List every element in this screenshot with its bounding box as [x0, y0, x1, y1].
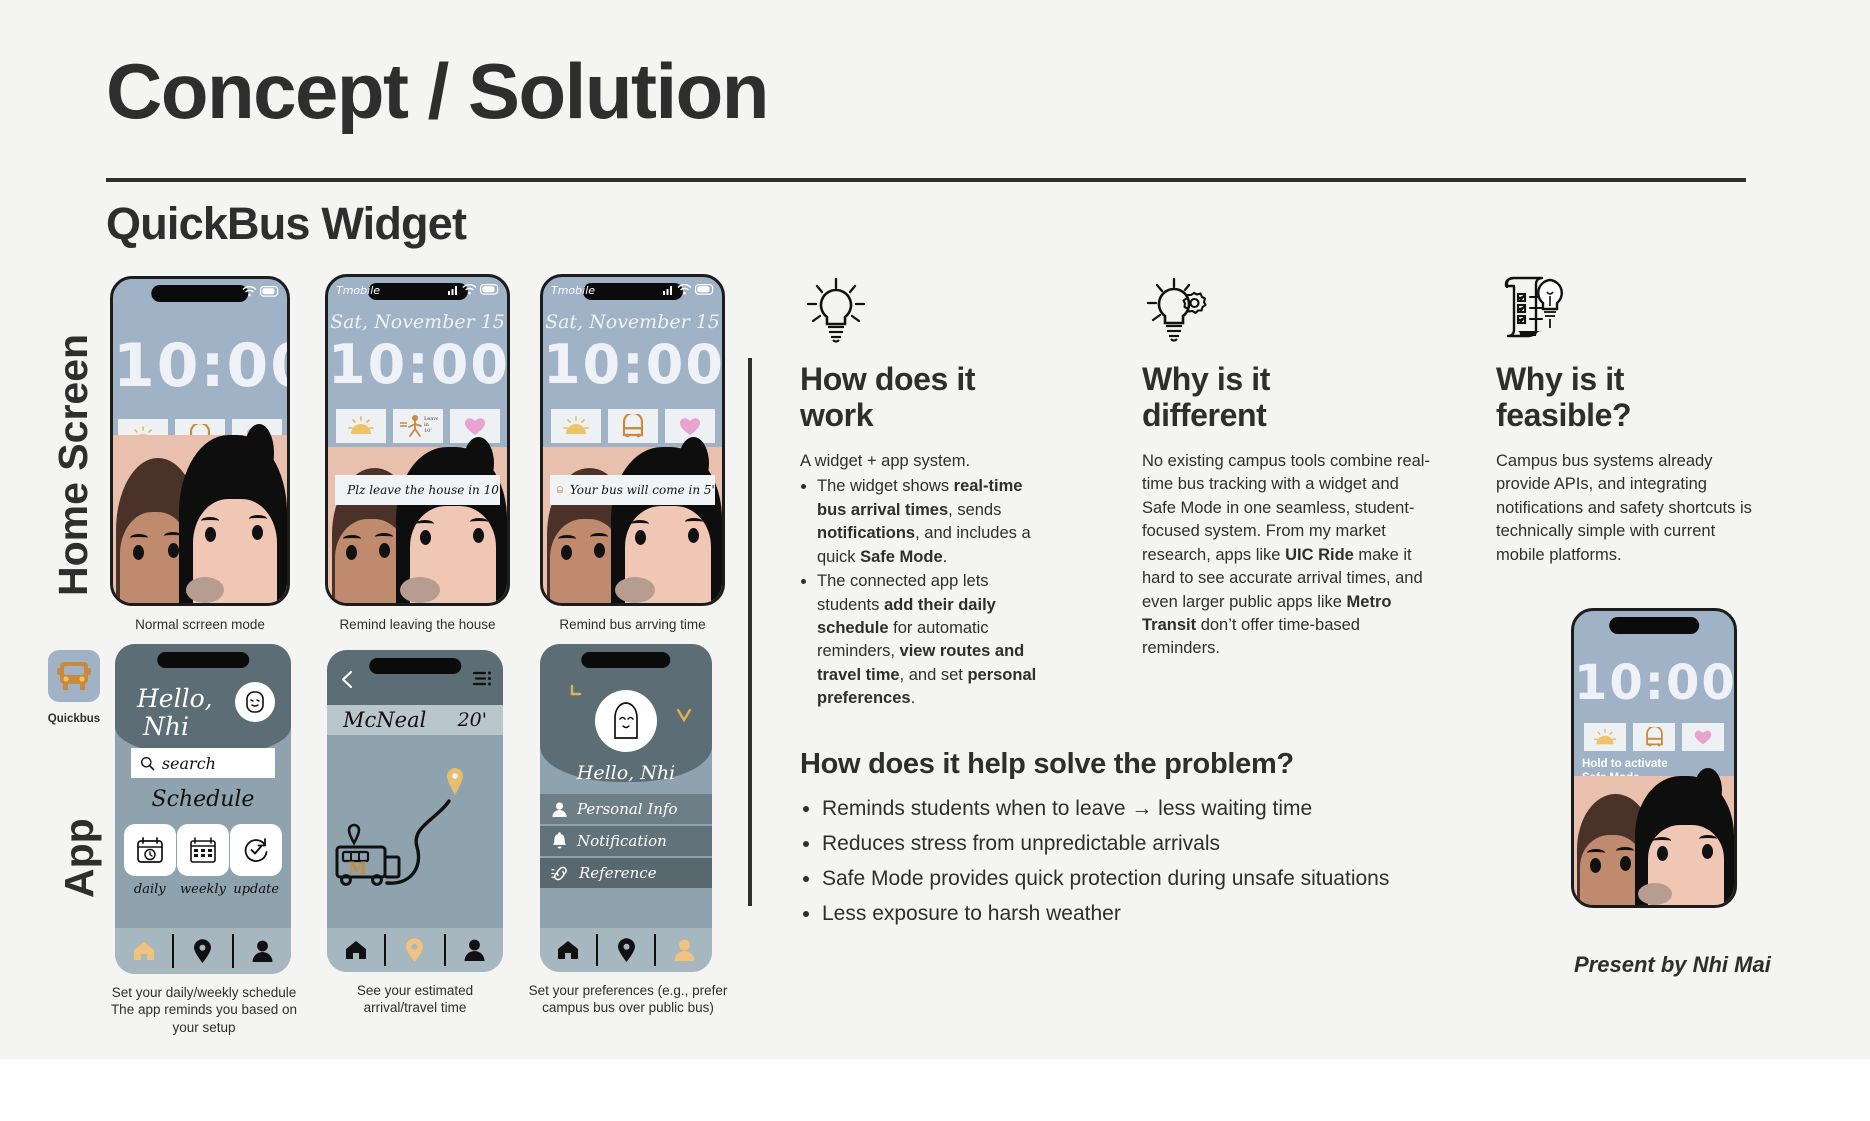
- character-left-brow: [1587, 849, 1605, 857]
- nav-map[interactable]: [386, 928, 443, 972]
- nav-map[interactable]: [598, 928, 654, 972]
- column-heading-why-different: Why is it different: [1142, 362, 1362, 434]
- app-phone-route: McNeal 20' M: [327, 650, 503, 972]
- phone-notch: [1609, 617, 1699, 634]
- chevron-left-icon: [339, 670, 354, 689]
- character-left-brow: [558, 535, 576, 543]
- column-heading-why-feasible: Why is it feasible?: [1496, 362, 1726, 434]
- phone-notch: [369, 658, 461, 674]
- home-icon: [131, 939, 157, 963]
- tile-label-daily: daily: [124, 882, 176, 897]
- bottom-nav: [540, 928, 712, 972]
- app-phone-schedule: Hello, Nhi search Schedule daily weekly …: [115, 644, 291, 974]
- tile-update[interactable]: [230, 824, 282, 876]
- greeting-line-1: Hello,: [137, 684, 213, 713]
- status-icons: [242, 285, 280, 297]
- home-phone-remind-bus: Tmobile Sat, November 15 10:00: [540, 274, 725, 606]
- section-label-home-screen: Home Screen: [50, 276, 97, 596]
- decor-blob: [615, 577, 655, 603]
- character-right-brow: [201, 517, 219, 525]
- schedule-tiles: [124, 824, 282, 876]
- bus-icon: [55, 659, 93, 693]
- lockscreen-clock: 10:00: [113, 331, 287, 401]
- map-area: M: [327, 735, 503, 928]
- bottom-nav: [115, 928, 291, 974]
- character-right-brow-2: [1699, 835, 1717, 843]
- heart-widget: [1682, 723, 1724, 751]
- presenter-credit: Present by Nhi Mai: [1574, 952, 1771, 978]
- nav-home[interactable]: [540, 928, 596, 972]
- weather-widget: [551, 409, 601, 443]
- back-button[interactable]: [339, 670, 354, 694]
- stop-name: McNeal: [343, 708, 426, 732]
- tile-daily[interactable]: [124, 824, 176, 876]
- profile-icon: [463, 938, 486, 962]
- nav-profile[interactable]: [234, 928, 291, 974]
- character-right-eye-2: [1702, 844, 1713, 859]
- search-input[interactable]: search: [131, 748, 275, 778]
- lockscreen-date: Sat, November 15: [328, 311, 507, 333]
- character-right-bun: [244, 424, 274, 481]
- nav-map[interactable]: [174, 928, 231, 974]
- tile-label-weekly: weekly: [177, 882, 229, 897]
- lockscreen-clock: 10:00: [543, 333, 722, 396]
- safe-mode-phone: 10:00 Hold to activate Safe Mode: [1571, 608, 1737, 908]
- character-left-brow-2: [1616, 847, 1634, 855]
- profile-avatar[interactable]: [595, 690, 657, 752]
- solve-bullet-list: Reminds students when to leave → less wa…: [822, 792, 1542, 932]
- location-pin-icon: [617, 938, 636, 963]
- wallpaper-scene: [113, 435, 287, 603]
- decor-blob: [1638, 883, 1672, 905]
- list-item: Safe Mode provides quick protection duri…: [822, 862, 1542, 896]
- character-left-eye: [1590, 858, 1601, 873]
- stop-eta: 20': [458, 709, 487, 731]
- carrier-label: Tmobile: [336, 284, 380, 297]
- phone-notch: [151, 285, 248, 302]
- lockscreen-clock: 10:00: [1574, 655, 1734, 711]
- app-icon-quickbus[interactable]: [48, 650, 100, 702]
- search-placeholder-text: search: [162, 754, 216, 773]
- character-right-eye: [205, 527, 216, 542]
- character-right-eye-2: [473, 528, 484, 543]
- list-item: The widget shows real-time bus arrival t…: [817, 475, 1050, 569]
- list-item: Less exposure to harsh weather: [822, 897, 1542, 931]
- bell-icon: [551, 832, 568, 850]
- character-right-brow-2: [685, 518, 703, 526]
- person-icon: [551, 801, 568, 818]
- notification-banner: Your bus will come in 5': [550, 475, 715, 505]
- character-left-eye-2: [594, 543, 605, 558]
- slide-root: Concept / Solution QuickBus Widget Home …: [0, 0, 1870, 1121]
- calendar-week-icon: [188, 835, 218, 865]
- character-left-eye: [133, 545, 144, 560]
- home-phone-caption-3: Remind bus arrving time: [525, 616, 740, 633]
- character-left-eye: [561, 545, 572, 560]
- column-body-why-different: No existing campus tools combine real-ti…: [1142, 450, 1434, 661]
- menu-item-reference[interactable]: Reference: [540, 858, 712, 888]
- profile-icon: [673, 938, 696, 962]
- column-body-how-it-works: A widget + app system. The widget shows …: [800, 450, 1050, 712]
- refresh-check-icon: [241, 835, 271, 865]
- wallpaper-scene: [328, 447, 507, 603]
- bus-widget: [1633, 723, 1675, 751]
- tile-weekly[interactable]: [177, 824, 229, 876]
- home-phone-caption-2: Remind leaving the house: [310, 616, 525, 633]
- spark-left-icon: [570, 684, 586, 705]
- character-right-eye-2: [688, 528, 699, 543]
- content-divider: [748, 358, 752, 906]
- column-bullet-list: The widget shows real-time bus arrival t…: [817, 475, 1050, 710]
- section-label-app: App: [56, 758, 103, 898]
- lightbulb-gear-icon: [1142, 274, 1214, 351]
- lockscreen-date: Sat, November 15: [543, 311, 722, 333]
- status-icons: [663, 283, 715, 295]
- app-phone-preferences: Hello, Nhi Personal Info Notification Re…: [540, 644, 712, 972]
- notification-text: Your bus will come in 5': [570, 483, 715, 497]
- home-icon: [343, 938, 369, 962]
- phone-notch: [157, 652, 249, 668]
- character-right-brow: [631, 520, 649, 528]
- home-phone-caption-1: Normal scrreen mode: [90, 616, 310, 633]
- character-right-brow: [416, 520, 434, 528]
- notification-banner: Plz leave the house in 10': [335, 475, 500, 505]
- column-body-why-feasible: Campus bus systems already provide APIs,…: [1496, 450, 1758, 567]
- home-icon: [555, 938, 581, 962]
- character-right-brow-2: [249, 515, 267, 523]
- location-pin-icon: [405, 938, 424, 963]
- nav-home[interactable]: [327, 928, 384, 972]
- character-right-eye-2: [252, 525, 263, 540]
- avatar[interactable]: [235, 682, 275, 722]
- menu-item-notification[interactable]: Notification: [540, 826, 712, 856]
- schedule-section-title: Schedule: [115, 787, 291, 812]
- app-phone-caption-1: Set your daily/weekly schedule The app r…: [95, 984, 313, 1036]
- column-heading-how-it-works: How does it work: [800, 362, 1015, 434]
- tile-label-update: update: [230, 882, 282, 897]
- nav-home[interactable]: [115, 928, 172, 974]
- app-icon-label: Quickbus: [29, 713, 119, 725]
- character-right-brow-2: [470, 518, 488, 526]
- page-title: Concept / Solution: [106, 52, 768, 130]
- carrier-label: Tmobile: [551, 284, 595, 297]
- list-item: Reminds students when to leave → less wa…: [822, 792, 1542, 826]
- menu-item-label: Reference: [579, 864, 657, 882]
- character-right-eye: [635, 530, 646, 545]
- character-left-brow-2: [375, 533, 393, 541]
- svg-text:M: M: [348, 859, 367, 879]
- wallpaper-scene: [543, 447, 722, 603]
- weather-widget: [1584, 723, 1626, 751]
- location-pin-icon: [193, 939, 212, 964]
- menu-item-label: Personal Info: [577, 800, 678, 818]
- calendar-clock-icon: [135, 835, 165, 865]
- list-item: The connected app lets students add thei…: [817, 570, 1050, 711]
- title-divider: [106, 178, 1746, 182]
- phone-notch: [581, 652, 670, 668]
- character-right-bun: [1694, 768, 1722, 812]
- app-phone-caption-2: See your estimated arrival/travel time: [307, 982, 523, 1017]
- link-icon: [551, 865, 570, 882]
- lightbulb-icon: [800, 274, 872, 351]
- status-icons: [448, 283, 500, 295]
- notification-text: Plz leave the house in 10': [347, 483, 502, 497]
- schedule-tile-labels: daily weekly update: [124, 882, 282, 897]
- nav-profile[interactable]: [656, 928, 712, 972]
- bus-widget: [608, 409, 658, 443]
- column-intro: A widget + app system.: [800, 450, 1050, 473]
- decor-blob: [400, 577, 440, 603]
- character-right-eye: [1657, 846, 1668, 861]
- wallpaper-scene: [1574, 776, 1734, 905]
- greeting-line-2: Nhi: [143, 712, 189, 741]
- decor-blob: [186, 577, 224, 603]
- list-item: Reduces stress from unpredictable arriva…: [822, 827, 1542, 861]
- character-left-brow: [130, 534, 148, 542]
- safe-mode-hint-line1: Hold to activate: [1582, 757, 1692, 771]
- bus-icon: [556, 481, 564, 499]
- nav-profile[interactable]: [446, 928, 503, 972]
- profile-icon: [251, 939, 274, 963]
- solve-heading: How does it help solve the problem?: [800, 748, 1294, 781]
- character-left-brow: [343, 535, 361, 543]
- widget-row: [1584, 723, 1724, 751]
- character-left-eye-2: [168, 543, 179, 558]
- menu-icon: [472, 670, 492, 687]
- menu-button[interactable]: [472, 670, 492, 692]
- character-right-brow: [1653, 837, 1671, 845]
- svg-text:10': 10': [424, 428, 432, 434]
- character-right-eye: [420, 530, 431, 545]
- weather-widget: [336, 409, 386, 443]
- page-subtitle: QuickBus Widget: [106, 198, 466, 250]
- profile-greeting: Hello, Nhi: [540, 762, 712, 784]
- menu-item-personal-info[interactable]: Personal Info: [540, 794, 712, 824]
- character-left-eye: [346, 545, 357, 560]
- character-left-eye-2: [379, 543, 390, 558]
- character-left-brow-2: [590, 533, 608, 541]
- character-left-eye-2: [1620, 856, 1631, 871]
- scroll-checklist-bulb-icon: [1496, 272, 1572, 349]
- lockscreen-clock: 10:00: [328, 333, 507, 396]
- spark-right-icon: [676, 708, 692, 729]
- home-phone-remind-leave: Tmobile Sat, November 15 10:00 Leavein10…: [325, 274, 510, 606]
- home-phone-normal: 10:00: [110, 276, 290, 606]
- menu-item-label: Notification: [577, 832, 667, 850]
- slide-bottom-strip: [0, 1059, 1870, 1121]
- app-phone-caption-3: Set your preferences (e.g., prefer campu…: [520, 982, 736, 1017]
- bottom-nav: [327, 928, 503, 972]
- search-icon: [140, 756, 155, 771]
- route-header: McNeal 20': [327, 705, 503, 735]
- walking-person-widget: Leavein10': [393, 409, 443, 443]
